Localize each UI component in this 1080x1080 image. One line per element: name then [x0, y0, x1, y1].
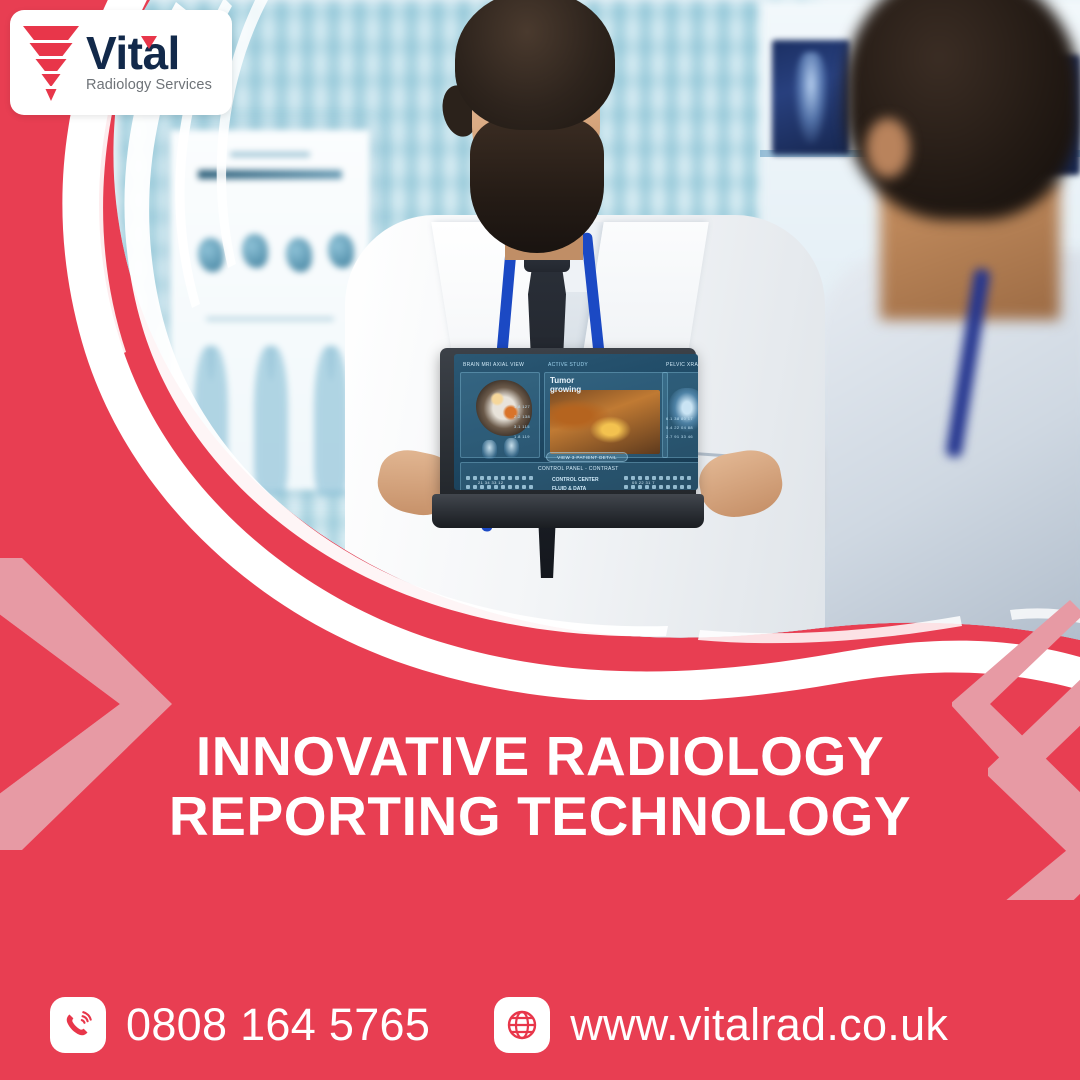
screen-header-left: BRAIN MRI AXIAL VIEW	[463, 362, 524, 368]
colleague-head	[845, 0, 1080, 220]
screen-header-right: PELVIC XRAY	[666, 362, 698, 368]
xray-film	[772, 40, 850, 155]
contact-phone[interactable]: 0808 164 5765	[50, 997, 430, 1053]
tumor-growing-label: Tumor growing	[550, 376, 581, 394]
laptop-base	[432, 494, 704, 528]
screen-readout-right-2: 5.4 22 04 88	[666, 425, 693, 430]
laptop-device: BRAIN MRI AXIAL VIEW ACTIVE STUDY PELVIC…	[432, 348, 704, 528]
laptop-keyboard	[458, 644, 678, 666]
poster-canvas: BRAIN MRI AXIAL VIEW ACTIVE STUDY PELVIC…	[0, 0, 1080, 1080]
screen-control-center-label: CONTROL CENTER FLUID & DATA	[552, 476, 599, 490]
headline-line-1: INNOVATIVE RADIOLOGY	[0, 726, 1080, 786]
screen-readout-bottom-left: 21 34 33 12	[478, 480, 504, 485]
anatomy-poster	[170, 130, 370, 490]
doctor-hair	[455, 0, 615, 130]
headline: INNOVATIVE RADIOLOGY REPORTING TECHNOLOG…	[0, 726, 1080, 846]
laptop-lid: BRAIN MRI AXIAL VIEW ACTIVE STUDY PELVIC…	[440, 348, 696, 496]
phone-call-icon	[60, 1007, 96, 1043]
headline-line-2: REPORTING TECHNOLOGY	[0, 786, 1080, 846]
contact-footer: 0808 164 5765 www.vitalrad.co.uk	[0, 985, 1080, 1065]
logo-i-dot-triangle	[141, 36, 157, 49]
tissue-scan-image	[550, 390, 660, 454]
screen-control-bar-label: CONTROL PANEL - CONTRAST	[538, 466, 619, 472]
screen-indicator-row	[624, 485, 691, 489]
laptop-screen: BRAIN MRI AXIAL VIEW ACTIVE STUDY PELVIC…	[454, 354, 698, 490]
screen-readout-left-1: 1.8 127	[514, 404, 530, 409]
brand-tagline: Radiology Services	[86, 77, 212, 93]
screen-readout-left-4: 1.8 119	[514, 434, 530, 439]
brand-name-text: Vital	[86, 27, 180, 79]
doctor-beard	[470, 118, 604, 253]
phone-number: 0808 164 5765	[126, 999, 430, 1051]
screen-readout-left-2: 2.2 138	[514, 414, 530, 419]
scan-thumbnail	[504, 438, 519, 457]
website-url: www.vitalrad.co.uk	[570, 999, 948, 1051]
screen-header-center: ACTIVE STUDY	[548, 362, 588, 368]
scan-thumbnail	[482, 440, 497, 459]
screen-action-button[interactable]: VIEW 3 PATIENT DETAIL	[546, 452, 628, 462]
screen-indicator-row	[466, 485, 533, 489]
poster-subtitle	[230, 152, 310, 157]
screen-readout-right-1: 6.1 38 80 17	[666, 416, 693, 421]
screen-readout-bottom-right: 05 22 31 7	[632, 480, 655, 485]
radiology-funnel-icon	[20, 22, 82, 104]
brand-name: Vital	[86, 32, 212, 74]
poster-title	[198, 170, 342, 179]
globe-icon-badge	[494, 997, 550, 1053]
colleague-ear	[866, 118, 910, 178]
phone-icon-badge	[50, 997, 106, 1053]
globe-icon	[505, 1008, 539, 1042]
brand-logo-card[interactable]: Vital Radiology Services	[10, 10, 232, 115]
screen-readout-left-3: 3.1 115	[514, 424, 530, 429]
contact-website[interactable]: www.vitalrad.co.uk	[494, 997, 948, 1053]
screen-readout-right-3: 2.7 91 33 46	[666, 434, 693, 439]
